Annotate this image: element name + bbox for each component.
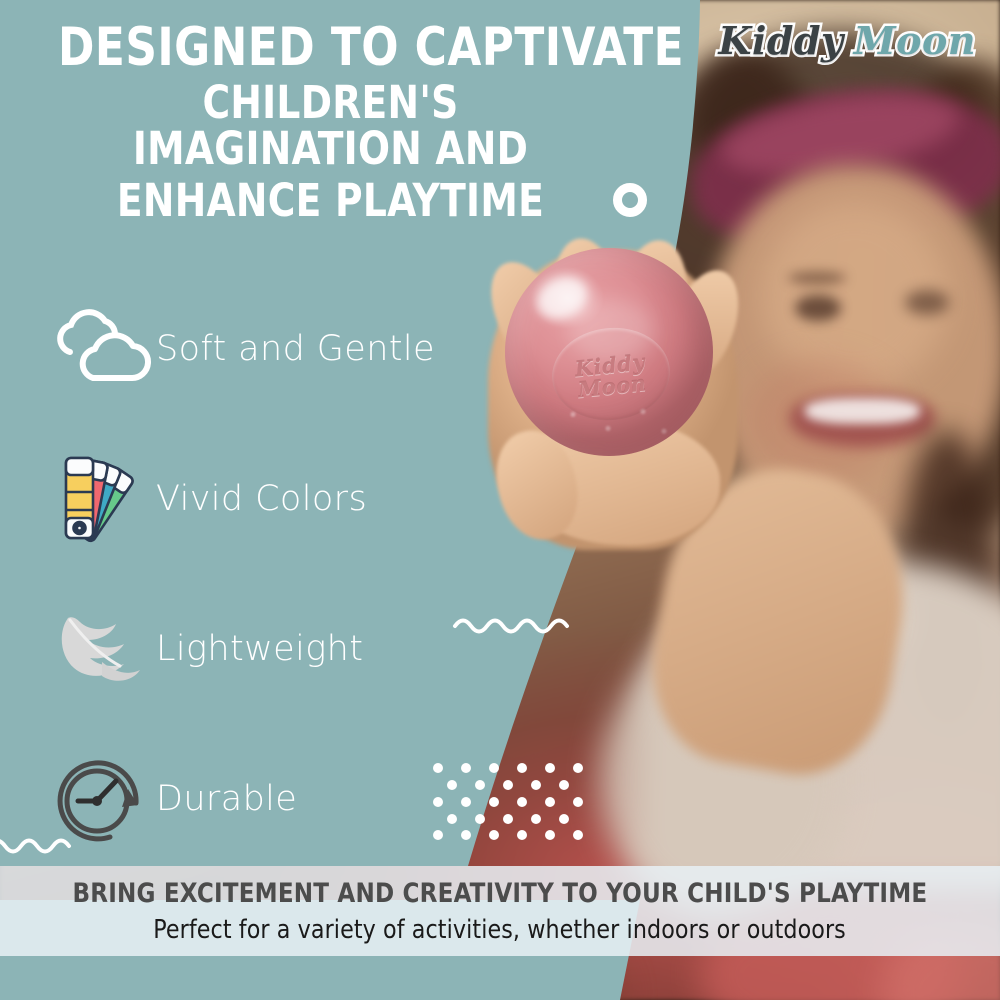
banner-subheading: Perfect for a variety of activities, whe… [154,915,847,945]
brand-logo: KiddyMoon [718,18,976,63]
bottom-banner: BRING EXCITEMENT AND CREATIVITY TO YOUR … [0,866,1000,956]
brand-logo-part-1: Kiddy [718,18,843,63]
product-infographic: Kiddy Moon DESIGNED TO CAPTIVATE CHILDRE… [0,0,1000,1000]
feature-item-lightweight: Lightweight [44,590,514,708]
wavy-line-icon [452,612,584,638]
page-title: DESIGNED TO CAPTIVATE CHILDREN'S IMAGINA… [58,22,603,224]
feather-icon [44,603,156,695]
feature-label: Lightweight [156,629,363,669]
feature-item-soft-and-gentle: Soft and Gentle [44,290,514,408]
feature-item-vivid-colors: Vivid Colors [44,440,514,558]
ball-texture [545,392,685,448]
color-swatch-fan-icon [44,453,156,545]
feature-label: Soft and Gentle [156,329,435,369]
wavy-line-icon [0,832,82,858]
headline-line-3: ENHANCE PLAYTIME [77,178,584,224]
dot-grid-icon [432,762,600,840]
headline-line-2: CHILDREN'S IMAGINATION AND [77,80,584,172]
cloud-icon [44,303,156,395]
circle-outline-icon [613,183,647,217]
feature-label: Durable [156,779,297,819]
feature-label: Vivid Colors [156,479,367,519]
headline-line-1: DESIGNED TO CAPTIVATE [58,22,559,74]
banner-heading: BRING EXCITEMENT AND CREATIVITY TO YOUR … [73,878,928,909]
brand-logo-part-2: Moon [854,18,976,63]
